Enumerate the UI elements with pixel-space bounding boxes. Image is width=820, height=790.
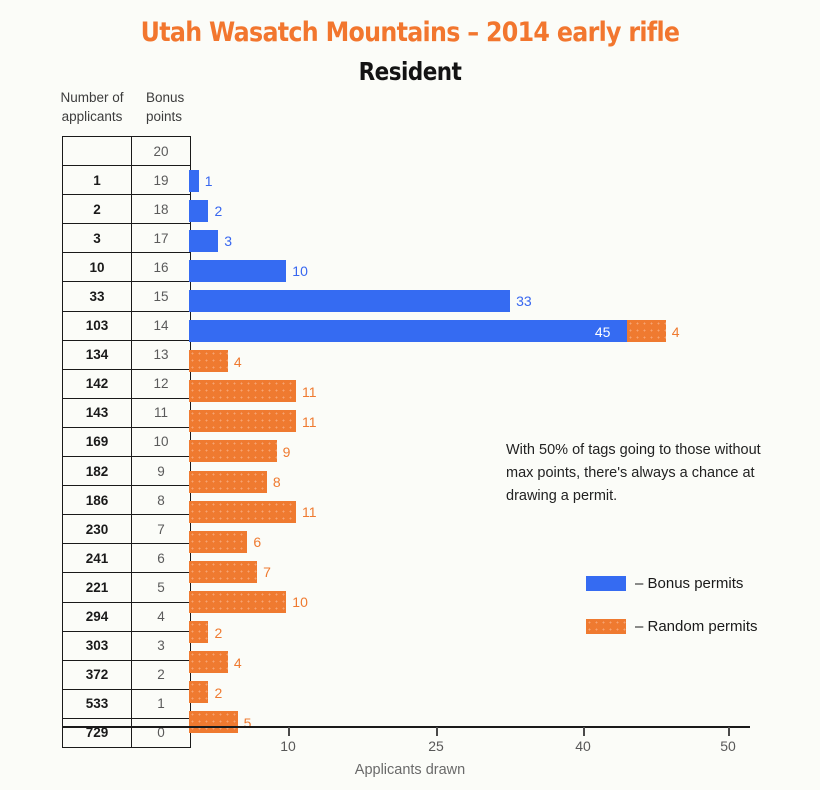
bar-value-label-bonus: 45 [595,322,611,342]
bar-random-permits [189,651,228,673]
x-axis-tick-label: 50 [720,738,736,754]
bar-value-label-random: 11 [302,382,317,402]
bar-row: 5 [0,708,820,738]
legend-label: – Bonus permits [635,575,743,592]
bar-value-label-random: 11 [302,502,317,522]
bar-value-label-random: 2 [214,683,222,703]
legend-label: – Random permits [635,618,758,635]
bar-value-label-random: 4 [672,322,680,342]
bar-bonus-permits [189,260,286,282]
bar-random-permits [189,440,277,462]
x-axis-line [62,726,750,728]
bar-row: 4 [0,347,820,377]
bar-value-label-random: 10 [292,592,308,612]
bar-value-label-random: 4 [234,352,242,372]
bar-value-label-random: 9 [283,442,291,462]
bar-row: 11 [0,377,820,407]
bar-value-label-bonus: 33 [516,291,532,311]
column-header-applicants: Number of applicants [55,88,129,126]
bar-random-permits [189,471,267,493]
bar-row: 11 [0,407,820,437]
x-axis-tick [436,727,438,736]
bar-bonus-permits [189,200,208,222]
x-axis-tick-label: 40 [575,738,591,754]
bar-random-permits [189,681,208,703]
bar-value-label-random: 2 [214,623,222,643]
bar-bonus-permits [189,290,510,312]
bar-random-permits [189,380,296,402]
bar-value-label-random: 5 [244,713,252,733]
bar-row: 33 [0,286,820,316]
bar-random-permits [189,531,247,553]
bar-value-label-bonus: 10 [292,261,308,281]
bar-row: 454 [0,317,820,347]
bar-row [0,136,820,166]
bar-random-permits [189,621,208,643]
bar-row: 3 [0,226,820,256]
bar-bonus-permits [189,320,627,342]
x-axis-tick [288,727,290,736]
bar-row: 10 [0,256,820,286]
x-axis-tick-label: 25 [428,738,444,754]
bar-value-label-random: 7 [263,562,271,582]
bar-random-permits [627,320,666,342]
page-subtitle: Resident [57,58,762,86]
bar-row: 1 [0,166,820,196]
legend: – Bonus permits– Random permits [586,575,758,661]
legend-swatch-bonus [586,576,626,591]
bar-value-label-bonus: 1 [205,171,213,191]
bar-random-permits [189,410,296,432]
bar-random-permits [189,711,238,733]
bar-value-label-random: 8 [273,472,281,492]
page-title: Utah Wasatch Mountains – 2014 early rifl… [49,18,771,48]
bar-random-permits [189,350,228,372]
x-axis-tick-label: 10 [280,738,296,754]
bar-bonus-permits [189,230,218,252]
bar-random-permits [189,591,286,613]
bar-row: 2 [0,678,820,708]
column-header-bonus-points: Bonus points [146,88,202,126]
x-axis-tick [728,727,730,736]
bar-bonus-permits [189,170,199,192]
bar-row: 2 [0,196,820,226]
chart-title-block: Utah Wasatch Mountains – 2014 early rifl… [0,18,820,85]
bar-value-label-random: 11 [302,412,317,432]
bar-random-permits [189,501,296,523]
bar-row: 6 [0,527,820,557]
bar-random-permits [189,561,257,583]
x-axis-title: Applicants drawn [0,762,820,778]
bar-value-label-random: 6 [253,532,261,552]
legend-swatch-random [586,619,626,634]
bar-value-label-bonus: 2 [214,201,222,221]
legend-item[interactable]: – Bonus permits [586,575,758,591]
annotation-text: With 50% of tags going to those without … [506,439,764,508]
bar-value-label-random: 4 [234,653,242,673]
x-axis-tick [583,727,585,736]
bar-value-label-bonus: 3 [224,231,232,251]
legend-item[interactable]: – Random permits [586,618,758,634]
